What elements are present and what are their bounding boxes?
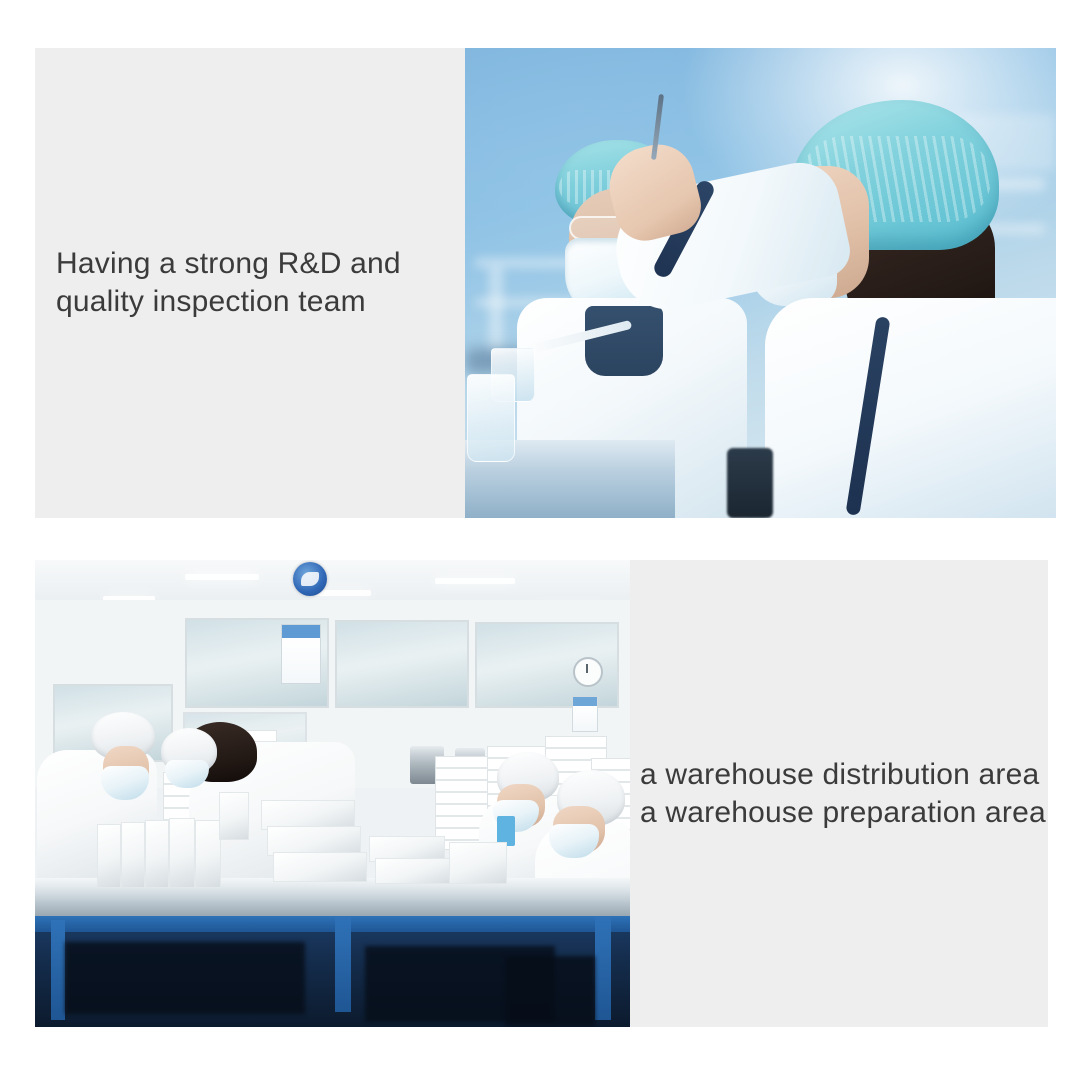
cleanroom-wall-sign-icon <box>293 562 327 596</box>
rnd-caption-line-2: quality inspection team <box>56 283 469 321</box>
worker-b-lab-coat <box>765 298 1056 518</box>
table-frame-rail <box>35 916 630 932</box>
warehouse-caption-line-1: a warehouse distribution area <box>640 756 1048 794</box>
warehouse-packing-photo <box>35 560 630 1027</box>
rnd-caption-line-1: Having a strong R&D and <box>56 245 469 283</box>
rnd-caption-panel: Having a strong R&D and quality inspecti… <box>35 48 469 518</box>
lab-rnd-quality-inspection-photo <box>465 48 1056 518</box>
section-rnd-quality: Having a strong R&D and quality inspecti… <box>0 0 1080 540</box>
worker-a-collar <box>585 306 663 376</box>
warehouse-caption-line-2: a warehouse preparation area <box>640 794 1048 832</box>
lab-equipment-rail <box>727 448 773 518</box>
section-warehouse: a warehouse distribution area a warehous… <box>0 540 1080 1080</box>
wall-clock-icon <box>573 657 603 687</box>
wall-notice-poster-2 <box>572 696 598 732</box>
wall-notice-poster <box>281 624 321 684</box>
beaker-large <box>467 374 515 462</box>
warehouse-caption-panel: a warehouse distribution area a warehous… <box>630 560 1048 1027</box>
product-detail-page: Having a strong R&D and quality inspecti… <box>0 0 1080 1080</box>
